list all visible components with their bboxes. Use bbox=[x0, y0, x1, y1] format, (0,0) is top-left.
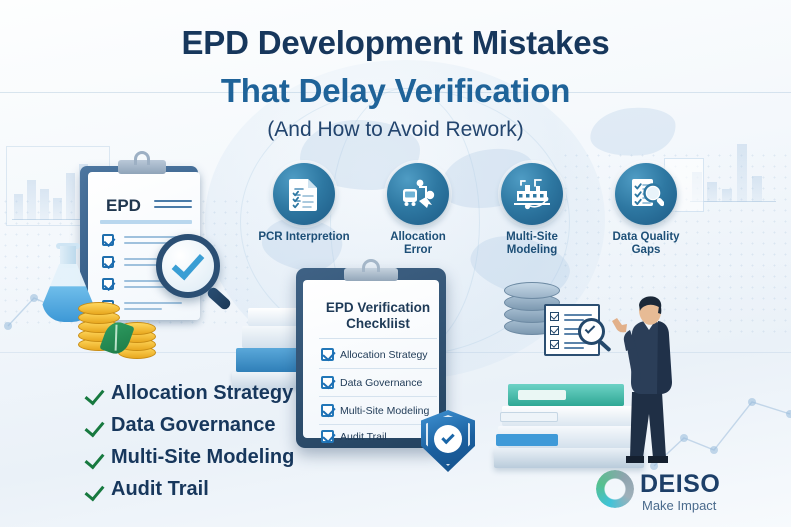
magnifier-lens bbox=[156, 234, 220, 298]
checkbox bbox=[550, 312, 559, 321]
page-title-line1: EPD Development Mistakes bbox=[0, 24, 791, 62]
checklist-item[interactable]: Allocation Strategy bbox=[321, 348, 428, 361]
icon-item-multi-site-modeling[interactable]: Multi-SiteModeling bbox=[476, 163, 588, 257]
epd-label: EPD bbox=[106, 196, 141, 216]
checklist-title: EPD Verification Checkliist bbox=[310, 300, 446, 332]
check-icon bbox=[88, 479, 103, 501]
list-item-label: Allocation Strategy bbox=[111, 382, 293, 405]
list-item-label: Multi-Site Modeling bbox=[111, 446, 294, 469]
list-item-label: Data Governance bbox=[111, 414, 276, 437]
check-icon bbox=[88, 415, 103, 437]
icon-label: Data QualityGaps bbox=[590, 231, 702, 257]
checklist-item[interactable]: Multi-Site Modeling bbox=[321, 404, 429, 417]
page-title-line2: That Delay Verification bbox=[0, 72, 791, 110]
checklist-item[interactable]: Data Governance bbox=[321, 376, 422, 389]
checklist-item-label: Multi-Site Modeling bbox=[340, 405, 429, 417]
deiso-ring-icon bbox=[596, 470, 634, 508]
factory-network-icon bbox=[501, 163, 563, 225]
divider bbox=[319, 338, 437, 339]
check-icon bbox=[88, 383, 103, 405]
icon-item-data-quality-gaps[interactable]: Data QualityGaps bbox=[590, 163, 702, 257]
checkbox[interactable] bbox=[321, 430, 334, 443]
magnifier-check-icon bbox=[156, 234, 220, 298]
checkbox bbox=[550, 326, 559, 335]
book bbox=[500, 412, 558, 422]
book bbox=[496, 434, 558, 446]
checkbox[interactable] bbox=[102, 278, 114, 290]
divider bbox=[319, 368, 437, 369]
logo-tagline: Make Impact bbox=[642, 498, 716, 513]
page-subtitle: (And How to Avoid Rework) bbox=[0, 118, 791, 142]
divider bbox=[319, 396, 437, 397]
shield-check-icon bbox=[421, 410, 475, 472]
allocation-flow-icon bbox=[387, 163, 449, 225]
infographic-canvas: EPD Development Mistakes That Delay Veri… bbox=[0, 0, 791, 527]
checklist-item-label: Allocation Strategy bbox=[340, 349, 428, 361]
document-magnifier-icon bbox=[615, 163, 677, 225]
check-mark bbox=[172, 246, 205, 280]
icon-item-allocation-error[interactable]: AllocationError bbox=[362, 163, 474, 257]
businessman-reviewing-icon bbox=[612, 296, 686, 472]
list-item: Data Governance bbox=[88, 414, 294, 437]
key-takeaways-list: Allocation Strategy Data Governance Mult… bbox=[88, 382, 294, 510]
logo-wordmark: DEISO bbox=[640, 470, 720, 499]
icon-label: Multi-SiteModeling bbox=[476, 231, 588, 257]
clipboard-ring bbox=[134, 151, 150, 165]
list-item: Allocation Strategy bbox=[88, 382, 294, 405]
checkbox[interactable] bbox=[102, 256, 114, 268]
checklist-item-label: Audit Trail bbox=[340, 431, 387, 443]
checklist-item-label: Data Governance bbox=[340, 377, 422, 389]
icon-item-pcr-interpretation[interactable]: PCR Interpretion bbox=[248, 163, 360, 244]
checkbox[interactable] bbox=[321, 376, 334, 389]
checkbox[interactable] bbox=[102, 234, 114, 246]
document-checklist-icon bbox=[273, 163, 335, 225]
checklist-magnifier-icon bbox=[544, 304, 600, 356]
checkbox bbox=[550, 340, 559, 349]
checklist-item[interactable]: Audit Trail bbox=[321, 430, 387, 443]
list-item: Audit Trail bbox=[88, 478, 294, 501]
mistake-icon-row: PCR Interpretion AllocationError bbox=[248, 163, 718, 263]
text-line bbox=[564, 347, 584, 349]
list-item: Multi-Site Modeling bbox=[88, 446, 294, 469]
checkbox[interactable] bbox=[321, 348, 334, 361]
magnifier-icon bbox=[578, 318, 605, 345]
shield-check-circle bbox=[434, 425, 462, 453]
divider bbox=[319, 424, 437, 425]
list-item-label: Audit Trail bbox=[111, 478, 209, 501]
text-line bbox=[564, 314, 592, 316]
deiso-logo[interactable]: DEISO Make Impact bbox=[596, 468, 776, 516]
book bbox=[518, 390, 566, 400]
clipboard-paper: EPD Verification Checkliist Allocation S… bbox=[303, 280, 439, 438]
icon-label: PCR Interpretion bbox=[248, 231, 360, 244]
icon-label: AllocationError bbox=[362, 231, 474, 257]
check-icon bbox=[88, 447, 103, 469]
checkbox[interactable] bbox=[321, 404, 334, 417]
clipboard-ring bbox=[362, 259, 380, 272]
